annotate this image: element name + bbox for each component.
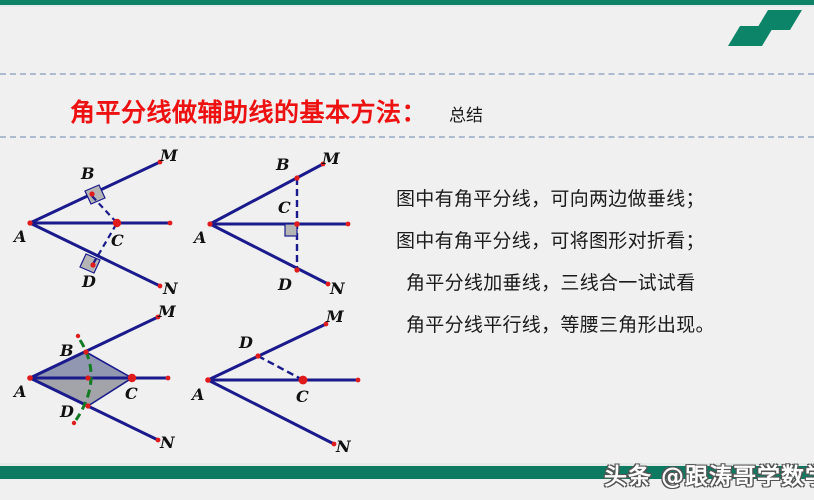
summary-line-3: 角平分线加垂线，三线合一试试看	[396, 262, 806, 304]
summary-line-2: 图中有角平分线，可将图形对折看；	[396, 220, 806, 262]
top-accent-bar-shadow	[0, 5, 814, 7]
green-parallelogram-logo	[726, 8, 810, 48]
svg-text:A: A	[12, 382, 26, 401]
svg-text:B: B	[80, 164, 95, 183]
divider-above-title	[0, 73, 814, 75]
summary-line-4: 角平分线平行线，等腰三角形出现。	[396, 304, 806, 346]
summary-line-1: 图中有角平分线，可向两边做垂线；	[396, 178, 806, 220]
svg-text:C: C	[278, 198, 291, 217]
figure-perpendicular-to-bisector: A B C D M N	[188, 142, 373, 297]
svg-text:A: A	[12, 227, 26, 246]
figure-perpendiculars: A B C D M N	[8, 146, 193, 296]
svg-text:D: D	[238, 333, 253, 352]
slide-root: 角平分线做辅助线的基本方法： 总结 图中有角平分线，可向两边做垂线； 图中有角平…	[0, 0, 814, 500]
svg-text:M: M	[157, 302, 177, 321]
figure-parallel-isosceles: A D C M N	[186, 282, 376, 454]
svg-text:M: M	[325, 307, 345, 326]
svg-text:A: A	[192, 228, 206, 247]
svg-text:N: N	[335, 437, 352, 454]
summary-text-block: 图中有角平分线，可向两边做垂线； 图中有角平分线，可将图形对折看； 角平分线加垂…	[396, 178, 806, 346]
svg-text:C: C	[111, 231, 124, 250]
figure-grid: A B C D M N	[0, 142, 390, 462]
channel-watermark: 头条 @跟涛哥学数学	[604, 457, 814, 491]
svg-text:C: C	[125, 384, 138, 403]
figure-fold-symmetry: A B C D M N	[8, 290, 193, 450]
svg-text:C: C	[296, 387, 309, 406]
svg-text:B: B	[59, 341, 74, 360]
svg-text:A: A	[190, 385, 204, 404]
page-title: 角平分线做辅助线的基本方法： 总结	[70, 93, 483, 131]
svg-text:M: M	[159, 146, 179, 165]
divider-below-title	[0, 136, 814, 138]
svg-text:D: D	[81, 272, 96, 291]
svg-text:M: M	[321, 149, 341, 168]
svg-text:B: B	[275, 155, 290, 174]
page-title-main: 角平分线做辅助线的基本方法：	[70, 93, 427, 129]
svg-text:D: D	[59, 402, 74, 421]
page-title-sub: 总结	[449, 101, 483, 126]
svg-text:N: N	[159, 433, 176, 450]
